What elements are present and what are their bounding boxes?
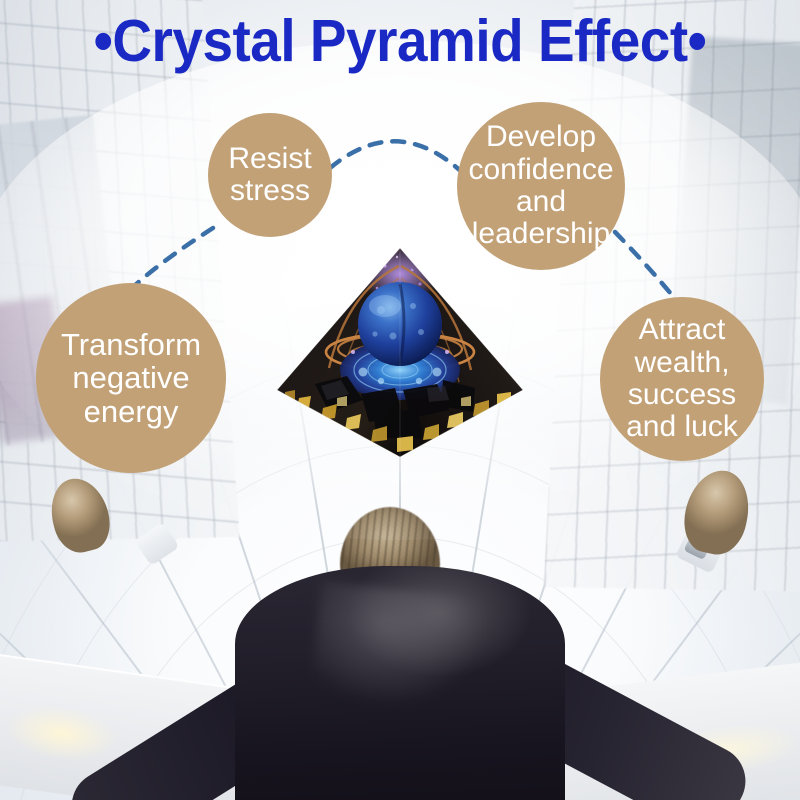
benefit-bubble-attract-wealth[interactable]: Attract wealth, success and luck [600,297,764,461]
benefit-bubble-develop-confidence[interactable]: Develop confidence and leadership [457,102,625,270]
pyramid-body [277,248,523,457]
crystal-pyramid-image [277,248,523,457]
benefit-bubble-transform-energy[interactable]: Transform negative energy [36,283,226,473]
promo-graphic: •Crystal Pyramid Effect• Resist stress D… [0,0,800,800]
benefit-bubble-resist-stress[interactable]: Resist stress [208,113,332,237]
page-title: •Crystal Pyramid Effect• [28,12,772,71]
